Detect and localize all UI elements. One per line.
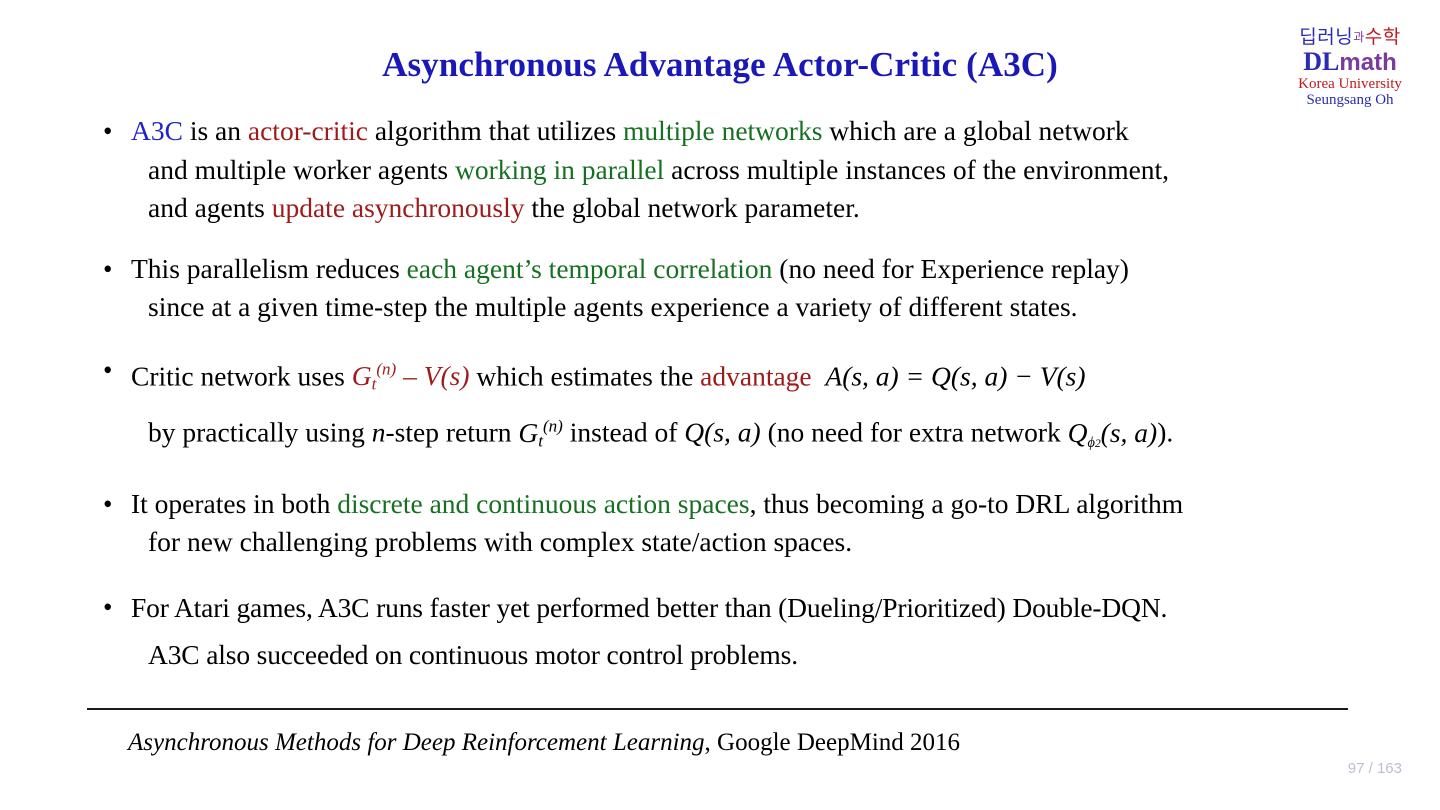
formula-symbol-G: G bbox=[518, 417, 538, 448]
text: (no need for Experience replay) bbox=[772, 253, 1129, 284]
bullet-item: • For Atari games, A3C runs faster yet p… bbox=[100, 584, 1390, 678]
bullet-line: for new challenging problems with comple… bbox=[131, 523, 1390, 562]
logo-math-text: math bbox=[1339, 49, 1396, 76]
text: ). bbox=[1157, 417, 1173, 448]
text: by practically using bbox=[148, 417, 372, 448]
logo-dl-text: DL bbox=[1303, 47, 1339, 76]
text: instead of bbox=[563, 417, 684, 448]
logo-university: Korea University bbox=[1288, 77, 1412, 92]
logo-korean-gwa: 과 bbox=[1353, 30, 1365, 44]
formula-q-value: Q(s, a) bbox=[684, 417, 760, 448]
logo-korean-deeplearning: 딥러닝 bbox=[1299, 26, 1353, 48]
citation-source: , Google DeepMind 2016 bbox=[705, 729, 961, 756]
citation-paper-title: Asynchronous Methods for Deep Reinforcem… bbox=[128, 729, 705, 756]
term-working-in-parallel: working in parallel bbox=[455, 154, 664, 185]
term-multiple-networks: multiple networks bbox=[623, 115, 822, 146]
term-temporal-correlation: each agent’s temporal correlation bbox=[407, 253, 773, 284]
bullet-item: • This parallelism reduces each agent’s … bbox=[100, 250, 1390, 327]
text: , thus becoming a go-to DRL algorithm bbox=[750, 488, 1184, 519]
term-advantage: advantage bbox=[700, 360, 811, 391]
bullet-marker: • bbox=[103, 485, 112, 524]
bullet-marker: • bbox=[103, 584, 112, 631]
formula-superscript-n: (n) bbox=[543, 416, 563, 435]
bullet-item: • A3C is an actor-critic algorithm that … bbox=[100, 112, 1390, 228]
page-number: 97 / 163 bbox=[1348, 760, 1402, 777]
formula-subscript-phi2: ϕ2 bbox=[1088, 435, 1101, 451]
citation: Asynchronous Methods for Deep Reinforcem… bbox=[128, 729, 960, 757]
logo-korean-line: 딥러닝과수학 bbox=[1288, 28, 1412, 47]
formula-superscript-n: (n) bbox=[376, 360, 396, 379]
text: algorithm that utilizes bbox=[368, 115, 623, 146]
text: This parallelism reduces bbox=[131, 253, 407, 284]
logo-korean-math: 수학 bbox=[1365, 26, 1401, 48]
term-a3c: A3C bbox=[131, 115, 183, 146]
text: the global network parameter. bbox=[525, 192, 860, 223]
bullet-marker: • bbox=[103, 349, 112, 391]
term-actor-critic: actor-critic bbox=[248, 115, 368, 146]
bullet-marker: • bbox=[103, 250, 112, 289]
bullet-line: Critic network uses Gt(n) – V(s) which e… bbox=[131, 349, 1390, 406]
formula-minus-value: – V(s) bbox=[396, 360, 469, 391]
formula-args: (s, a) bbox=[1101, 417, 1158, 448]
logo-author: Seungsang Oh bbox=[1288, 93, 1412, 108]
text: and multiple worker agents bbox=[148, 154, 455, 185]
slide-canvas: Asynchronous Advantage Actor-Critic (A3C… bbox=[0, 0, 1440, 810]
bullet-marker: • bbox=[103, 112, 112, 151]
bullet-line: A3C also succeeded on continuous motor c… bbox=[131, 631, 1390, 678]
bullet-line: For Atari games, A3C runs faster yet per… bbox=[131, 584, 1390, 631]
text: which are a global network bbox=[822, 115, 1128, 146]
footer-divider bbox=[87, 708, 1348, 710]
dlmath-logo: 딥러닝과수학 DLmath Korea University Seungsang… bbox=[1288, 28, 1412, 108]
slide-content: • A3C is an actor-critic algorithm that … bbox=[100, 112, 1390, 700]
text: is an bbox=[183, 115, 248, 146]
formula-symbol-Q: Q bbox=[1068, 417, 1088, 448]
term-update-asynchronously: update asynchronously bbox=[272, 192, 525, 223]
text: which estimates the bbox=[470, 360, 701, 391]
bullet-line: since at a given time-step the multiple … bbox=[131, 288, 1390, 327]
bullet-line: by practically using n-step return Gt(n)… bbox=[131, 405, 1390, 464]
text: Critic network uses bbox=[131, 360, 352, 391]
formula-nstep-minus-value: Gt(n) – V(s) bbox=[352, 360, 470, 391]
term-action-spaces: discrete and continuous action spaces bbox=[337, 488, 749, 519]
bullet-line: It operates in both discrete and continu… bbox=[131, 485, 1390, 524]
text: (no need for extra network bbox=[761, 417, 1068, 448]
text: -step return bbox=[386, 417, 519, 448]
text: across multiple instances of the environ… bbox=[664, 154, 1169, 185]
text: and agents bbox=[148, 192, 272, 223]
bullet-line: A3C is an actor-critic algorithm that ut… bbox=[131, 112, 1390, 151]
bullet-line: and multiple worker agents working in pa… bbox=[131, 151, 1390, 190]
page-title: Asynchronous Advantage Actor-Critic (A3C… bbox=[0, 45, 1440, 85]
bullet-line: This parallelism reduces each agent’s te… bbox=[131, 250, 1390, 289]
formula-symbol-G: G bbox=[352, 360, 372, 391]
formula-advantage-definition: A(s, a) = Q(s, a) − V(s) bbox=[825, 360, 1085, 391]
formula-nstep-return: Gt(n) bbox=[518, 417, 562, 448]
bullet-item: • Critic network uses Gt(n) – V(s) which… bbox=[100, 349, 1390, 465]
bullet-item: • It operates in both discrete and conti… bbox=[100, 485, 1390, 562]
bullet-line: and agents update asynchronously the glo… bbox=[131, 189, 1390, 228]
logo-dlmath-line: DLmath bbox=[1288, 48, 1412, 75]
formula-symbol-n: n bbox=[372, 417, 386, 448]
formula-q-phi2: Qϕ2(s, a) bbox=[1068, 417, 1158, 448]
text: It operates in both bbox=[131, 488, 337, 519]
